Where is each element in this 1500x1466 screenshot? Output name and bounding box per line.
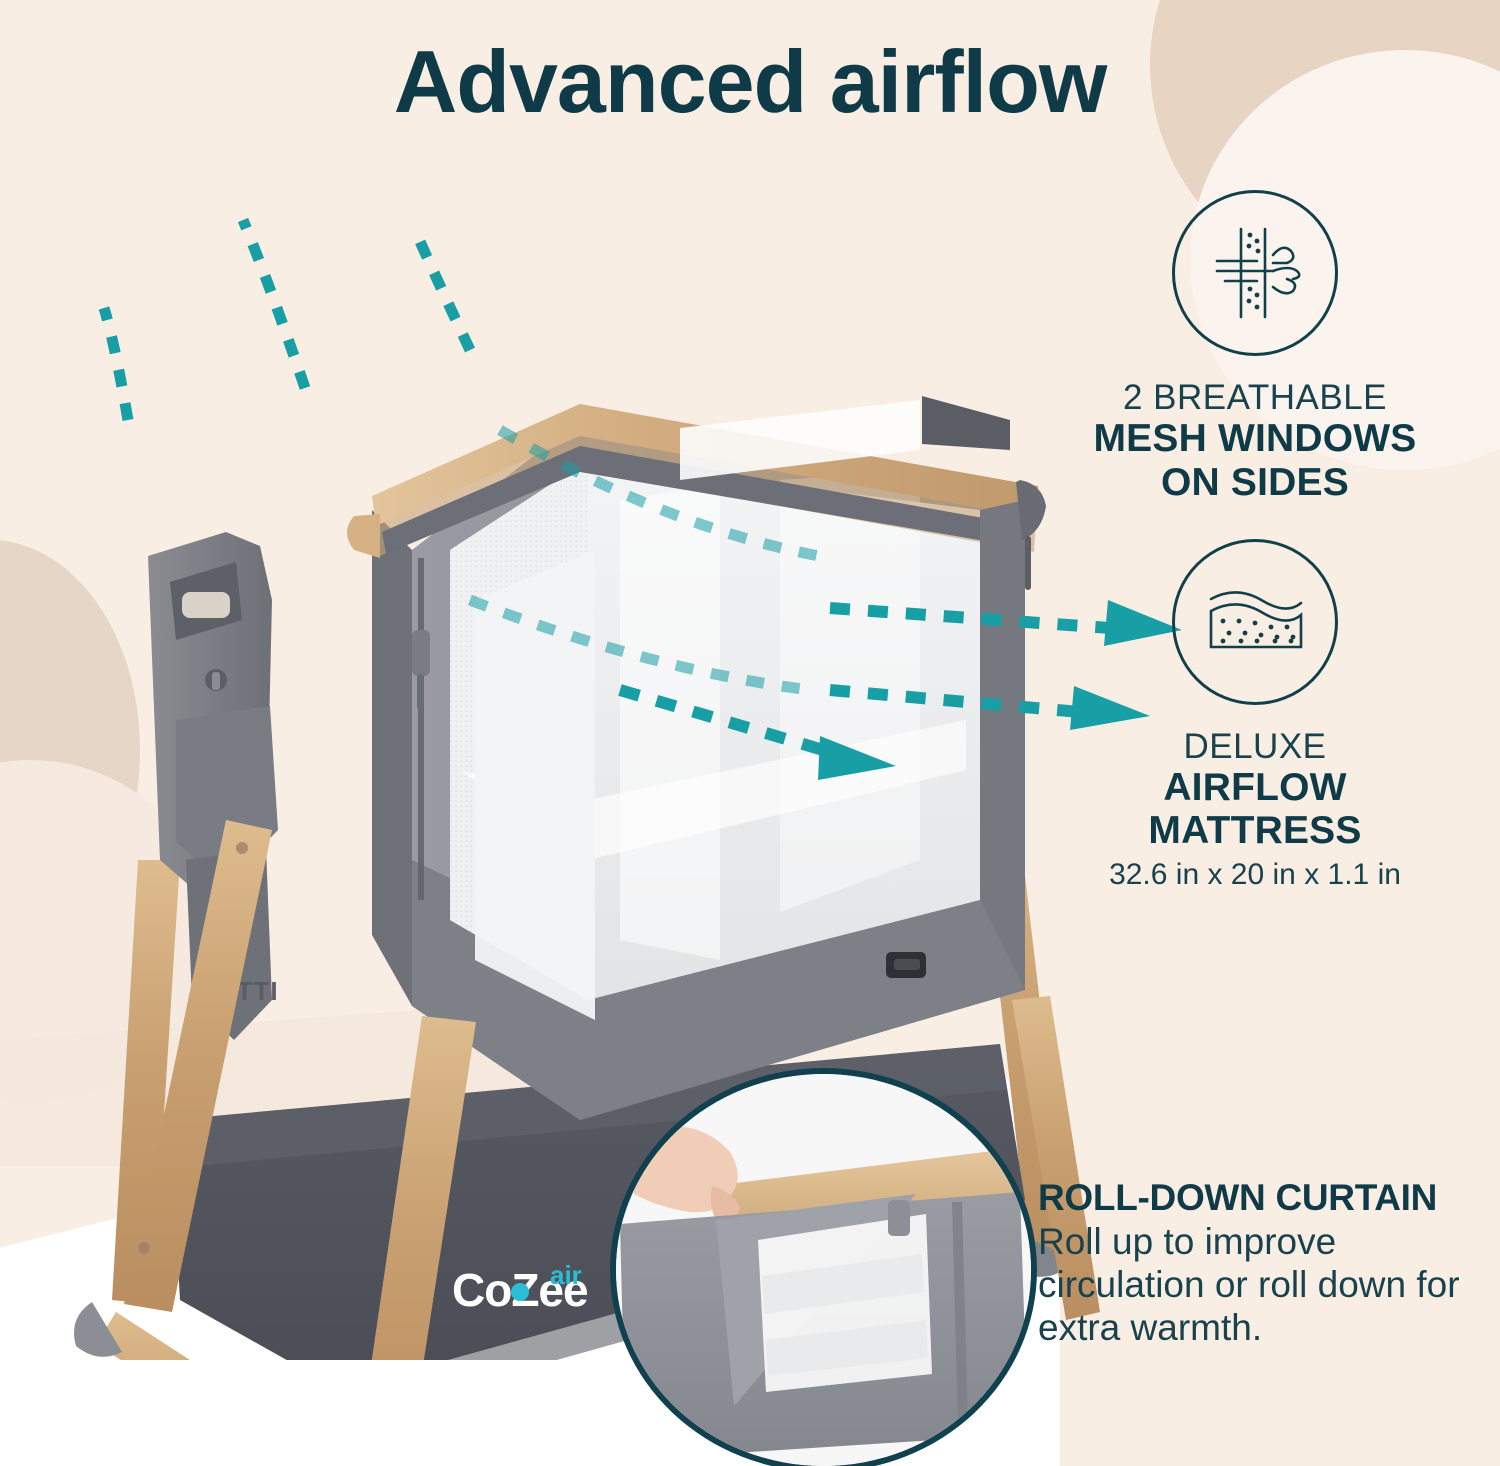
feature-label-light: 2 BREATHABLE xyxy=(1020,378,1490,417)
feature-label-light: DELUXE xyxy=(1020,727,1490,766)
product-brand-logo: CoZee air xyxy=(452,1260,588,1316)
inset-photo-circle xyxy=(610,1068,1037,1466)
feature-list: 2 BREATHABLE MESH WINDOWS ON SIDES xyxy=(1020,190,1490,927)
feature-label-bold-1: AIRFLOW xyxy=(1020,766,1490,810)
mattress-icon xyxy=(1172,539,1338,705)
feature-label-bold-2: MATTRESS xyxy=(1020,809,1490,853)
page-title: Advanced airflow xyxy=(0,36,1500,128)
callout-heading: ROLL-DOWN CURTAIN xyxy=(1038,1178,1488,1219)
feature-dimensions: 32.6 in x 20 in x 1.1 in xyxy=(1020,857,1490,893)
roll-down-curtain-text: ROLL-DOWN CURTAIN Roll up to improve cir… xyxy=(1038,1178,1488,1349)
callout-body: Roll up to improve circulation or roll d… xyxy=(1038,1221,1488,1350)
feature-mesh-windows: 2 BREATHABLE MESH WINDOWS ON SIDES xyxy=(1020,190,1490,505)
airflow-mesh-icon xyxy=(1172,190,1338,356)
svg-text:air: air xyxy=(550,1260,582,1290)
airflow-mesh-glyph xyxy=(1195,213,1315,333)
feature-airflow-mattress: DELUXE AIRFLOW MATTRESS 32.6 in x 20 in … xyxy=(1020,539,1490,894)
curtain-photo-illustration xyxy=(616,1074,1031,1466)
crib-bassinet xyxy=(347,396,1046,1120)
feature-label-bold-2: ON SIDES xyxy=(1020,461,1490,505)
infographic-canvas: Advanced airflow xyxy=(0,0,1500,1466)
feature-label-bold-1: MESH WINDOWS xyxy=(1020,417,1490,461)
mattress-glyph xyxy=(1195,567,1315,677)
roll-down-curtain-inset xyxy=(600,1062,1040,1466)
